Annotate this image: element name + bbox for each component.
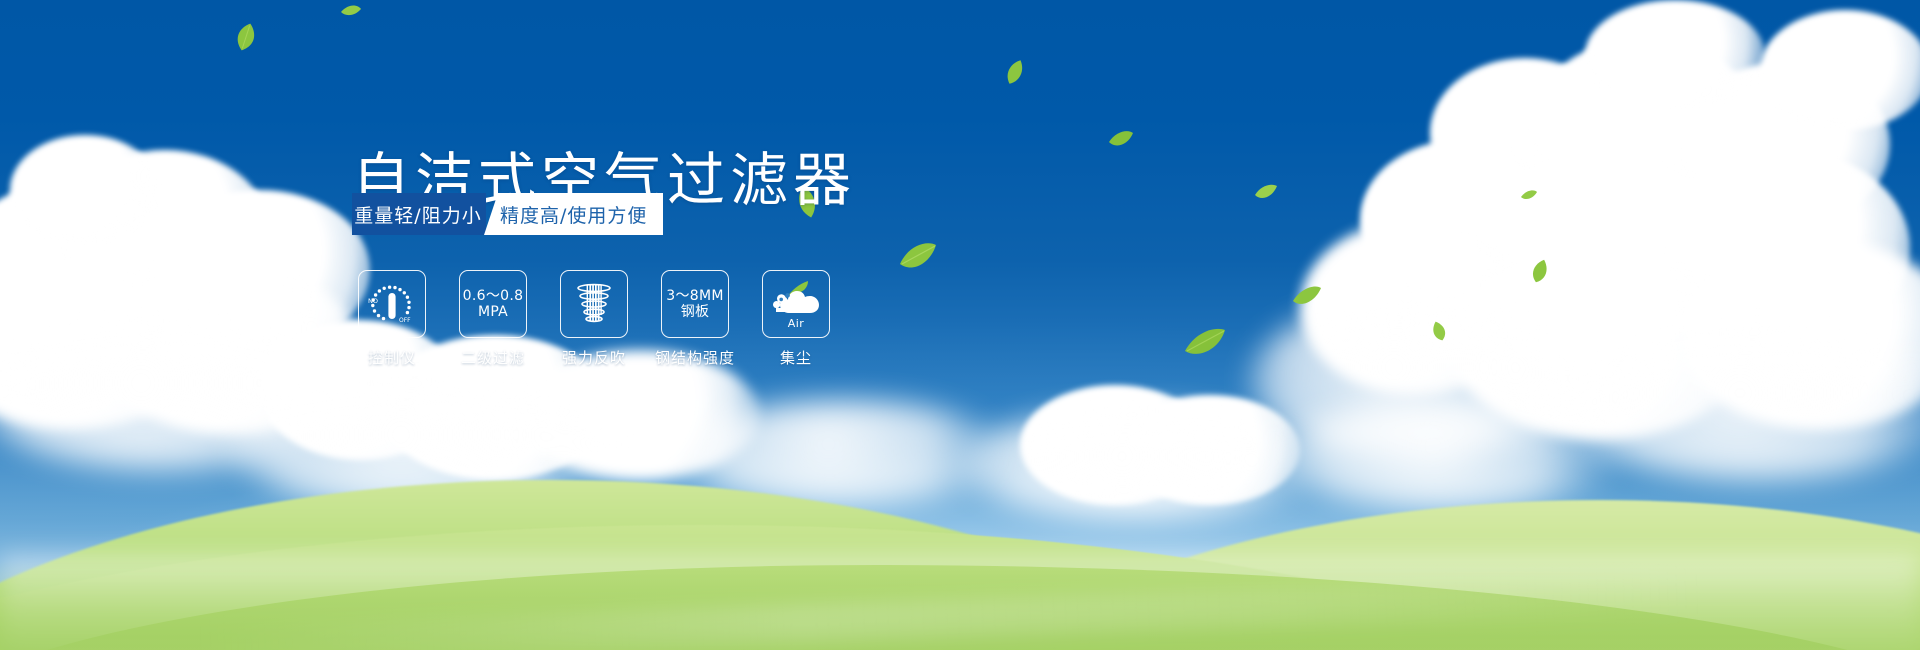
feature-item-steel-strength[interactable]: 3～8MM 钢板 钢结构强度 — [661, 270, 729, 368]
tag-precision-convenience[interactable]: 精度高/使用方便 — [484, 193, 663, 235]
leaf-icon — [898, 240, 938, 274]
coil-blowback-icon — [571, 281, 617, 327]
feature-caption: 集尘 — [780, 347, 812, 368]
feature-item-dust-collection[interactable]: Air 集尘 — [762, 270, 830, 368]
tag-weight-resistance[interactable]: 重量轻/阻力小 — [352, 193, 486, 235]
leaf-icon — [1520, 188, 1538, 202]
leaf-icon — [1254, 182, 1278, 202]
feature-icon-box: 3～8MM 钢板 — [661, 270, 729, 338]
gauge-off-label: OFF — [399, 317, 411, 324]
feature-tag-row: 重量轻/阻力小 精度高/使用方便 — [352, 193, 663, 235]
feature-caption: 控制仪 — [368, 347, 416, 368]
steel-value-line1: 3～8MM — [666, 288, 723, 304]
feature-icon-box: 0.6～0.8 MPA — [459, 270, 527, 338]
feature-item-secondary-filter[interactable]: 0.6～0.8 MPA 二级过滤 — [459, 270, 527, 368]
leaf-icon — [1005, 58, 1025, 86]
feature-icon-row: NO OFF 控制仪 0.6～0.8 MPA 二级过滤 — [358, 270, 830, 368]
leaf-icon — [1292, 283, 1322, 309]
leaf-icon — [233, 22, 259, 52]
pressure-value-line2: MPA — [478, 304, 508, 320]
feature-item-blowback[interactable]: 强力反吹 — [560, 270, 628, 368]
pressure-value-line1: 0.6～0.8 — [463, 288, 524, 304]
feature-icon-box — [560, 270, 628, 338]
feature-caption: 钢结构强度 — [655, 347, 735, 368]
leaf-icon — [1530, 258, 1550, 284]
cloud-air-icon — [768, 280, 824, 322]
feature-caption: 强力反吹 — [562, 347, 626, 368]
grass-field — [0, 350, 1920, 650]
leaf-icon — [1183, 326, 1227, 360]
leaf-icon — [1108, 128, 1134, 150]
leaf-icon — [1430, 320, 1448, 342]
feature-item-controller[interactable]: NO OFF 控制仪 — [358, 270, 426, 368]
gauge-no-label: NO — [368, 297, 378, 305]
air-label: Air — [763, 317, 829, 330]
product-banner: 自洁式空气过滤器 重量轻/阻力小 精度高/使用方便 — [0, 0, 1920, 650]
steel-value-line2: 钢板 — [681, 304, 710, 320]
leaf-icon — [340, 3, 362, 19]
feature-icon-box: NO OFF — [358, 270, 426, 338]
feature-icon-box: Air — [762, 270, 830, 338]
feature-caption: 二级过滤 — [461, 347, 525, 368]
dial-gauge-icon: NO OFF — [366, 280, 418, 328]
grass-bottom-shade — [0, 560, 1920, 650]
